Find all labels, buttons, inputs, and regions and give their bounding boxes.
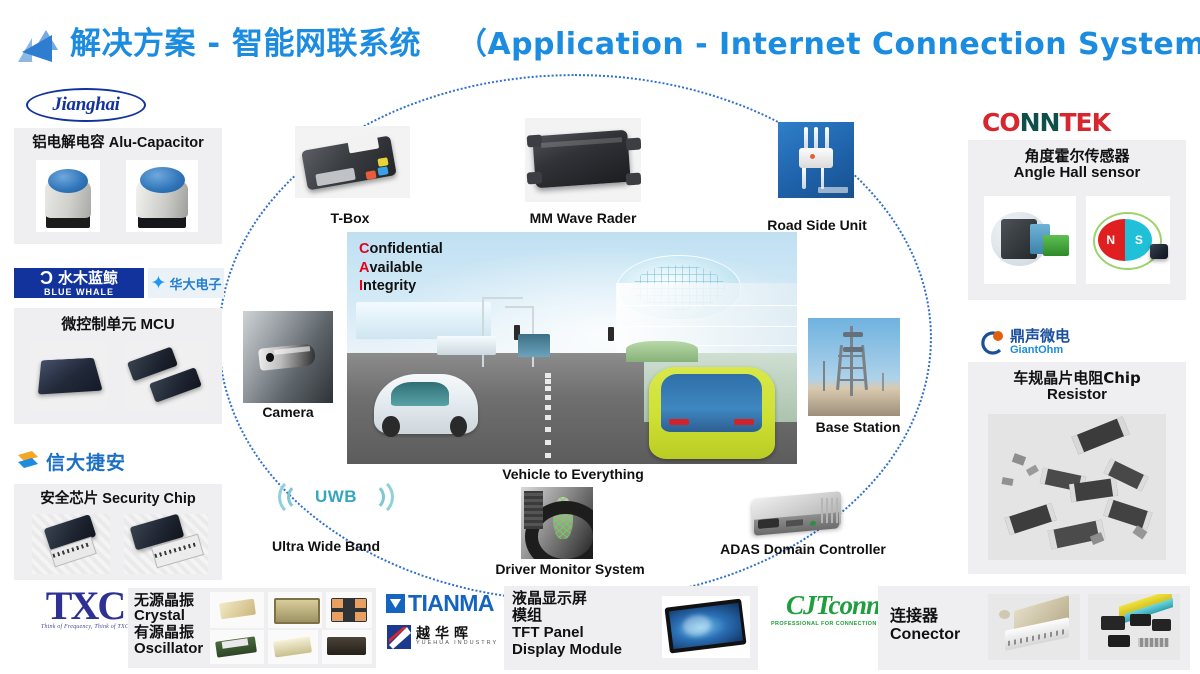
tianma-mark-icon: [386, 594, 405, 613]
node-icon-camera: [243, 311, 333, 403]
thumb-crystal-pads-top: [326, 592, 372, 628]
brand-logo-tianma-text: TIANMA: [408, 590, 494, 617]
thumb-tft-panel-photo: [662, 596, 750, 658]
thumb-motor-with-pcb: [984, 196, 1076, 284]
card-connector: 连接器 Conector: [878, 586, 1190, 670]
card-alu-capacitor: 铝电解电容 Alu-Capacitor: [14, 128, 222, 244]
node-icon-mm-wave-rader: [525, 118, 641, 202]
page-title-en: （Application - Internet Connection Syste…: [457, 27, 1200, 62]
star-icon: ✦: [151, 272, 167, 295]
node-icon-road-side-unit: [778, 122, 854, 198]
brand-logo-giantohm-en: GiantOhm: [1010, 345, 1070, 357]
hero-caption-v2x: Vehicle to Everything: [470, 466, 676, 482]
cai-line-available: Available: [359, 259, 443, 278]
card-mcu: 微控制单元 MCU: [14, 308, 222, 424]
node-label-mm-wave-rader: MM Wave Rader: [512, 210, 654, 226]
blue-triangles-icon: [12, 22, 70, 66]
brand-logo-huada-cn: 华大电子: [169, 274, 221, 293]
node-label-driver-monitor-system: Driver Monitor System: [487, 561, 653, 577]
thumb-security-chip-pair: [124, 514, 208, 574]
card-angle-hall-sensor: 角度霍尔传感器 Angle Hall sensor N S: [968, 140, 1186, 300]
uwb-badge: UWB: [315, 487, 357, 507]
node-icon-ultra-wide-band: UWB: [276, 474, 396, 520]
card-crystal-oscillator: 无源晶振 Crystal 有源晶振 Oscillator: [128, 588, 376, 668]
brand-logo-yuehua-cn: 越华晖: [416, 627, 498, 642]
node-icon-t-box: [295, 126, 410, 198]
card-chip-resistor: 车规晶片电阻Chip Resistor: [968, 362, 1186, 574]
node-label-road-side-unit: Road Side Unit: [754, 217, 880, 233]
brand-logo-tianma: TIANMA: [386, 590, 502, 616]
thumb-security-chip-single: [32, 514, 110, 574]
giantohm-mark-icon: [978, 329, 1006, 357]
slide-canvas: 解决方案 - 智能网联系统 （Application - Internet Co…: [0, 0, 1200, 674]
card-title-mcu: 微控制单元 MCU: [14, 316, 222, 334]
brand-logo-blue-whale: Ɔ 水木蓝鲸 BLUE WHALE: [14, 268, 144, 298]
node-icon-base-station: [808, 318, 900, 416]
brand-logo-conntek: CONNTEK: [982, 108, 1142, 138]
brand-logo-blue-whale-cn: 水木蓝鲸: [58, 271, 118, 286]
hero-v2x-scene: Confidential Available Integrity: [347, 232, 797, 464]
card-title-crystal-oscillator: 无源晶振 Crystal 有源晶振 Oscillator: [134, 592, 203, 657]
node-icon-driver-monitor-system: [521, 487, 593, 559]
thumb-oscillator-white: [268, 630, 318, 664]
cai-line-integrity: Integrity: [359, 277, 443, 296]
thumb-mcu-qfp-package: [30, 342, 108, 410]
card-title-angle-hall-sensor: 角度霍尔传感器 Angle Hall sensor: [968, 148, 1186, 182]
card-title-alu-capacitor: 铝电解电容 Alu-Capacitor: [14, 135, 222, 151]
brand-logo-blue-whale-en: BLUE WHALE: [44, 288, 114, 297]
cai-overlay: Confidential Available Integrity: [359, 240, 443, 296]
card-title-tft-display-module: 液晶显示屏 模组 TFT Panel Display Module: [512, 590, 622, 658]
thumb-connector-kit-black-yellow: [1088, 594, 1180, 660]
card-tft-display-module: 液晶显示屏 模组 TFT Panel Display Module: [504, 586, 758, 670]
brand-logo-giantohm: 鼎声微电 GiantOhm: [978, 326, 1168, 360]
node-label-t-box: T-Box: [305, 210, 395, 226]
card-title-connector: 连接器 Conector: [890, 606, 960, 644]
brand-logo-yuehua: 越华晖 YUEHUA INDUSTRY: [386, 620, 502, 654]
thumb-mcu-dual-packages: [124, 342, 208, 410]
page-title-cn: 解决方案 - 智能网联系统: [70, 26, 421, 62]
page-title: 解决方案 - 智能网联系统 （Application - Internet Co…: [70, 29, 1200, 60]
node-label-camera: Camera: [248, 404, 328, 420]
thumb-capacitor-can-blue-top: [126, 160, 198, 232]
brand-logo-huada: ✦ 华大电子: [148, 268, 224, 298]
brand-logo-giantohm-cn: 鼎声微电: [1010, 329, 1070, 345]
thumb-smd-crystal-gold: [210, 592, 264, 628]
brand-logo-jianghai-text: Jianghai: [26, 88, 146, 122]
thumb-magnet-disc: N S: [1086, 196, 1170, 284]
brand-logo-yuehua-en: YUEHUA INDUSTRY: [416, 641, 498, 647]
card-security-chip: 安全芯片 Security Chip: [14, 484, 222, 580]
cai-line-confidential: Confidential: [359, 240, 443, 259]
card-title-security-chip: 安全芯片 Security Chip: [14, 491, 222, 507]
xdja-mark-icon: [16, 449, 42, 473]
brand-logo-conntek-text: CONNTEK: [982, 108, 1110, 137]
yuehua-mark-icon: [386, 624, 412, 650]
node-label-adas-domain-controller: ADAS Domain Controller: [708, 541, 898, 557]
thumb-oscillator-black: [322, 630, 372, 664]
card-title-chip-resistor: 车规晶片电阻Chip Resistor: [968, 370, 1186, 404]
node-icon-adas-domain-controller: [746, 483, 850, 545]
thumb-oscillator-green: [210, 630, 264, 664]
brand-logo-jianghai: Jianghai: [26, 88, 146, 122]
brand-logo-xinda-jiean-cn: 信大捷安: [46, 448, 126, 475]
thumb-scattered-chip-resistors: [988, 414, 1166, 560]
node-label-base-station: Base Station: [806, 419, 910, 435]
thumb-capacitor-can-silver: [36, 160, 100, 232]
thumb-connector-housing-beige: [988, 594, 1080, 660]
brand-logo-xinda-jiean: 信大捷安: [16, 446, 166, 476]
thumb-crystal-ceramic-pkg: [268, 592, 322, 628]
slide-title-bar: 解决方案 - 智能网联系统 （Application - Internet Co…: [0, 14, 1200, 74]
node-label-ultra-wide-band: Ultra Wide Band: [262, 538, 390, 554]
